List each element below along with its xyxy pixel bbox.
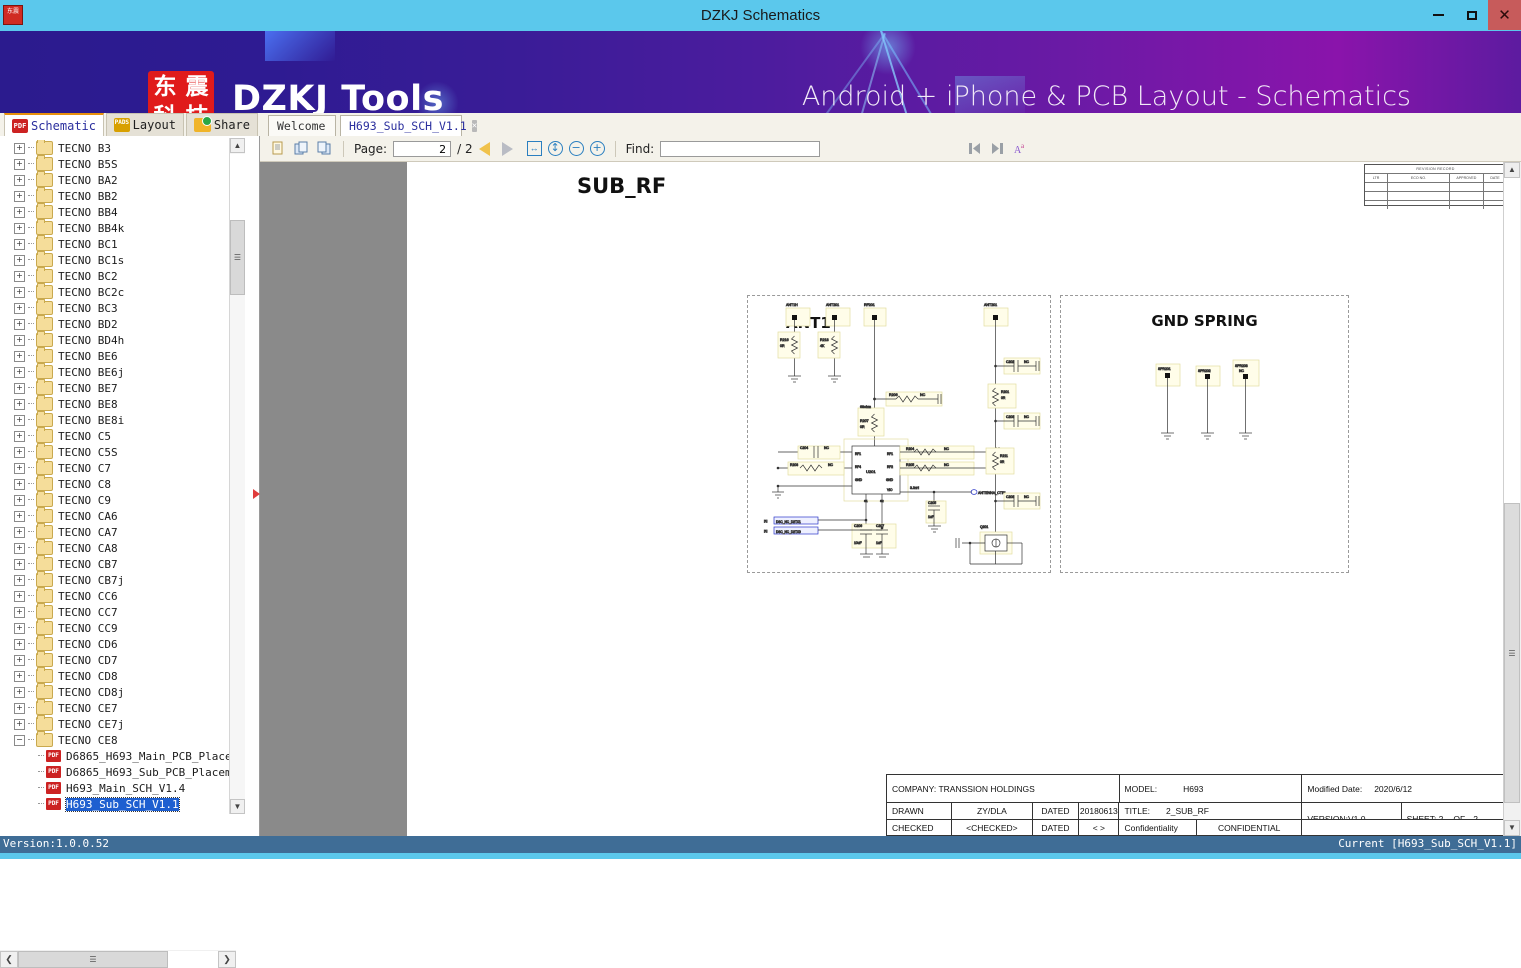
file-tree[interactable]: +TECNO B3+TECNO B5S+TECNO BA2+TECNO BB2+… (0, 140, 236, 812)
revision-header: REVISION RECORD (1365, 165, 1506, 174)
tree-item-label: TECNO CA7 (58, 526, 118, 539)
title-block-spacer (1302, 820, 1507, 836)
revision-col-ltr: LTR (1365, 174, 1388, 182)
svg-text:a: a (1021, 142, 1025, 150)
window-controls: ✕ (1422, 0, 1521, 31)
next-page-icon[interactable] (502, 142, 513, 156)
tree-item-folder[interactable]: +TECNO BC3 (0, 300, 236, 316)
expand-icon[interactable]: + (14, 399, 25, 410)
folder-icon (36, 381, 53, 395)
modified-value: 2020/6/12 (1374, 784, 1412, 794)
find-next-icon[interactable] (989, 140, 1006, 157)
tree-item-label: TECNO BC2c (58, 286, 124, 299)
expand-icon[interactable]: + (14, 159, 25, 170)
expand-icon[interactable]: + (14, 223, 25, 234)
tree-connector (28, 403, 34, 405)
tree-connector (28, 163, 34, 165)
tree-connector (28, 259, 34, 261)
folder-icon (36, 573, 53, 587)
copy-page-icon[interactable] (270, 140, 287, 157)
tree-item-folder[interactable]: +TECNO CA8 (0, 540, 236, 556)
tree-item-label: TECNO BB4k (58, 222, 124, 235)
title-value: 2_SUB_RF (1166, 806, 1209, 816)
tree-item-folder[interactable]: −TECNO CE8 (0, 732, 236, 748)
tree-item-label: TECNO CD7 (58, 654, 118, 667)
scroll-track-upper[interactable] (230, 154, 245, 220)
tree-item-folder[interactable]: +TECNO CD7 (0, 652, 236, 668)
tree-connector (28, 323, 34, 325)
logo-char-3: 科 (149, 104, 181, 114)
tab-share[interactable]: Share (186, 113, 258, 136)
title-block-row-checked: CHECKED <CHECKED> DATED < > Confidential… (887, 820, 1507, 836)
tree-item-folder[interactable]: +TECNO BD2 (0, 316, 236, 332)
minimize-button[interactable] (1422, 0, 1455, 30)
collapse-icon[interactable]: − (14, 735, 25, 746)
doc-tab-welcome-label: Welcome (277, 119, 325, 133)
tree-item-label: D6865_H693_Sub_PCB_Placem (66, 766, 232, 779)
dated2-value: < > (1079, 820, 1119, 836)
title-label: TITLE: (1124, 806, 1150, 816)
expand-icon[interactable]: + (14, 655, 25, 666)
panel-collapse-handle[interactable] (253, 489, 260, 499)
tree-item-label: TECNO BE8i (58, 414, 124, 427)
tab-layout[interactable]: PADS Layout (106, 113, 184, 136)
tree-connector (28, 355, 34, 357)
brand-title: DZKJ Tools (232, 79, 444, 113)
expand-icon[interactable]: + (14, 495, 25, 506)
folder-icon (36, 589, 53, 603)
svg-text:R206: R206 (889, 393, 898, 397)
tree-item-pdf[interactable]: PDFD6865_H693_Main_PCB_Place (0, 748, 236, 764)
tree-item-label: TECNO CE8 (58, 734, 118, 747)
folder-icon (36, 429, 53, 443)
svg-text:0R: 0R (1001, 396, 1006, 400)
svg-text:C206: C206 (854, 524, 862, 528)
folder-icon (36, 621, 53, 635)
share-icon (194, 118, 211, 132)
tree-connector (28, 387, 34, 389)
expand-icon[interactable]: + (14, 383, 25, 394)
folder-icon (36, 493, 53, 507)
folder-icon (36, 397, 53, 411)
toolbar-separator (343, 141, 344, 157)
document-viewer[interactable]: SUB_RF REVISION RECORD LTR ECO NO. APPRO… (260, 162, 1521, 836)
tree-connector (28, 675, 34, 677)
tree-vertical-scrollbar[interactable]: ▲ ☰ ▼ (229, 138, 245, 814)
folder-icon (36, 413, 53, 427)
pdf-icon: PDF (46, 766, 61, 778)
tree-item-folder[interactable]: +TECNO C9 (0, 492, 236, 508)
expand-icon[interactable]: + (14, 575, 25, 586)
expand-icon[interactable]: + (14, 239, 25, 250)
tree-connector (28, 659, 34, 661)
zoom-in-icon[interactable]: + (590, 141, 605, 156)
expand-icon[interactable]: + (14, 303, 25, 314)
tree-item-label: TECNO CA8 (58, 542, 118, 555)
scroll-down-icon[interactable]: ▼ (230, 799, 245, 814)
expand-icon[interactable]: + (14, 687, 25, 698)
tree-item-folder[interactable]: +TECNO CB7j (0, 572, 236, 588)
pads-icon: PADS (114, 118, 130, 132)
svg-text:NC: NC (828, 463, 833, 467)
expand-icon[interactable]: + (14, 607, 25, 618)
svg-text:3.3nH: 3.3nH (910, 486, 920, 490)
modified-date-cell: Modified Date: 2020/6/12 (1302, 775, 1507, 802)
tree-connector (28, 419, 34, 421)
tree-connector (28, 307, 34, 309)
expand-icon[interactable]: + (14, 431, 25, 442)
svg-text:NC: NC (1239, 369, 1244, 373)
expand-icon[interactable]: + (14, 287, 25, 298)
title-bar: 东震 DZKJ Schematics ✕ (0, 0, 1521, 32)
tree-item-folder[interactable]: +TECNO BA2 (0, 172, 236, 188)
tree-item-folder[interactable]: +TECNO BC1s (0, 252, 236, 268)
svg-text:NC: NC (1024, 415, 1029, 419)
tree-item-label: TECNO C5S (58, 446, 118, 459)
tree-connector (28, 515, 34, 517)
folder-icon (36, 269, 53, 283)
tree-item-folder[interactable]: +TECNO CB7 (0, 556, 236, 572)
scroll-up-icon[interactable]: ▲ (230, 138, 245, 153)
fit-width-icon[interactable]: ↔ (527, 141, 542, 156)
tree-item-folder[interactable]: +TECNO C8 (0, 476, 236, 492)
tree-item-label: TECNO CA6 (58, 510, 118, 523)
svg-text:NC: NC (1024, 495, 1029, 499)
tree-item-folder[interactable]: +TECNO BC2 (0, 268, 236, 284)
svg-text:R218: R218 (820, 338, 829, 342)
find-prev-icon[interactable] (966, 140, 983, 157)
svg-text:S2: S2 (880, 499, 884, 503)
toolbar-separator-2 (615, 141, 616, 157)
svg-text:SPR202: SPR202 (1198, 369, 1211, 373)
hscroll-track[interactable] (168, 951, 218, 968)
svg-text:SPR203: SPR203 (1235, 364, 1248, 368)
expand-icon[interactable]: + (14, 527, 25, 538)
tree-horizontal-scrollbar[interactable]: ❮ ☰ ❯ (0, 950, 236, 968)
svg-text:RF2: RF2 (887, 465, 893, 469)
tree-item-label: TECNO BE6 (58, 350, 118, 363)
tree-connector (28, 451, 34, 453)
title-cell: TITLE: 2_SUB_RF (1119, 803, 1302, 819)
tree-item-label: TECNO CC7 (58, 606, 118, 619)
tree-item-folder[interactable]: +TECNO CE7 (0, 700, 236, 716)
revision-row (1365, 183, 1506, 192)
tree-connector (28, 339, 34, 341)
folder-icon (36, 237, 53, 251)
tree-connector (28, 739, 34, 741)
folder-icon (36, 205, 53, 219)
svg-text:DSC_NC_D2TX1: DSC_NC_D2TX1 (776, 520, 801, 524)
page-label: Page: (354, 142, 387, 156)
svg-text:NC: NC (824, 446, 829, 450)
doc-tab-welcome[interactable]: Welcome (268, 115, 336, 136)
extract-page-icon[interactable] (316, 140, 333, 157)
tree-connector (28, 531, 34, 533)
folder-icon (36, 717, 53, 731)
tree-item-pdf[interactable]: PDFD6865_H693_Sub_PCB_Placem (0, 764, 236, 780)
expand-icon[interactable]: + (14, 255, 25, 266)
expand-icon[interactable]: + (14, 191, 25, 202)
folder-icon (36, 285, 53, 299)
expand-icon[interactable]: + (14, 351, 25, 362)
tree-connector (28, 499, 34, 501)
title-block-row-top: COMPANY: TRANSSION HOLDINGS MODEL: H693 … (887, 775, 1507, 803)
expand-icon[interactable]: + (14, 511, 25, 522)
fit-page-icon[interactable]: ↕ (548, 141, 563, 156)
expand-icon[interactable]: + (14, 175, 25, 186)
tree-item-folder[interactable]: +TECNO CC7 (0, 604, 236, 620)
find-input[interactable] (660, 141, 820, 157)
tree-item-folder[interactable]: +TECNO BD4h (0, 332, 236, 348)
tree-connector (28, 195, 34, 197)
tree-item-folder[interactable]: +TECNO C5S (0, 444, 236, 460)
tree-item-label: TECNO BC1s (58, 254, 124, 267)
tree-connector (28, 227, 34, 229)
tree-item-label: TECNO BE6j (58, 366, 124, 379)
tree-item-folder[interactable]: +TECNO BC2c (0, 284, 236, 300)
version-cell: VERSION:V1.0 (1302, 803, 1401, 819)
folder-icon (36, 317, 53, 331)
title-block-row-drawn: DRAWN ZY/DLA DATED 20180613 TITLE: 2_SUB… (887, 803, 1507, 820)
expand-icon[interactable]: + (14, 623, 25, 634)
tree-connector (28, 579, 34, 581)
expand-icon[interactable]: + (14, 335, 25, 346)
svg-text:SPR201: SPR201 (1158, 367, 1171, 371)
tree-item-label: TECNO BB4 (58, 206, 118, 219)
svg-text:1uF: 1uF (928, 515, 934, 519)
tree-item-label: TECNO BC3 (58, 302, 118, 315)
svg-text:C203: C203 (1006, 415, 1014, 419)
find-options-icon[interactable]: Aa (1012, 140, 1029, 157)
banner-glow-1 (860, 31, 916, 75)
maximize-button[interactable] (1455, 0, 1488, 30)
sheet-label: SHEET: 2 (1407, 814, 1444, 819)
svg-text:0R: 0R (1000, 460, 1005, 464)
tree-item-folder[interactable]: +TECNO B3 (0, 140, 236, 156)
svg-text:R205: R205 (906, 463, 914, 467)
folder-icon (36, 669, 53, 683)
tree-connector (38, 755, 44, 757)
tree-item-folder[interactable]: +TECNO CA7 (0, 524, 236, 540)
revision-record-table: REVISION RECORD LTR ECO NO. APPROVED DAT… (1364, 164, 1507, 206)
tree-item-label: TECNO CB7j (58, 574, 124, 587)
svg-text:GND: GND (855, 478, 863, 482)
scroll-thumb[interactable]: ☰ (230, 220, 245, 295)
tree-item-label: D6865_H693_Main_PCB_Place (66, 750, 232, 763)
tree-item-folder[interactable]: +TECNO CC6 (0, 588, 236, 604)
tree-connector (28, 707, 34, 709)
tree-item-pdf[interactable]: PDFH693_Main_SCH_V1.4 (0, 780, 236, 796)
tree-item-label: TECNO BC1 (58, 238, 118, 251)
doc-tab-h693-label: H693_Sub_SCH_V1.1 (349, 119, 467, 133)
expand-icon[interactable]: + (14, 479, 25, 490)
maximize-icon (1467, 11, 1477, 20)
folder-icon (36, 637, 53, 651)
tree-item-label: TECNO CE7 (58, 702, 118, 715)
viewer-scroll-up-icon[interactable]: ▲ (1504, 162, 1520, 178)
revision-row (1365, 201, 1506, 209)
tree-item-folder[interactable]: +TECNO CD8j (0, 684, 236, 700)
tree-item-folder[interactable]: +TECNO C5 (0, 428, 236, 444)
folder-icon (36, 653, 53, 667)
tree-connector (28, 595, 34, 597)
app-banner: 东 震 科 技 DZKJ Tools Android + iPhone & PC… (0, 31, 1521, 113)
expand-icon[interactable]: + (14, 463, 25, 474)
svg-text:NC: NC (944, 463, 949, 467)
document-toolbar: Page: 2 / 2 ↔ ↕ − + Find: Aa (260, 136, 1521, 162)
close-button[interactable]: ✕ (1488, 0, 1521, 30)
expand-icon[interactable]: + (14, 703, 25, 714)
folder-icon (36, 365, 53, 379)
tree-connector (38, 787, 44, 789)
svg-text:S1: S1 (864, 499, 868, 503)
close-icon[interactable]: ✕ (472, 120, 477, 132)
tree-item-folder[interactable]: +TECNO BE6 (0, 348, 236, 364)
folder-icon (36, 701, 53, 715)
logo-char-2: 震 (181, 74, 213, 101)
tree-item-folder[interactable]: +TECNO BB2 (0, 188, 236, 204)
svg-text:68ohm: 68ohm (860, 405, 871, 409)
schematic-block-ant1: ANT1 ANT1H R216 0R (747, 295, 1051, 573)
svg-text:0R: 0R (780, 344, 785, 348)
scroll-right-icon[interactable]: ❯ (218, 951, 236, 968)
tree-item-folder[interactable]: +TECNO CE7j (0, 716, 236, 732)
tree-item-folder[interactable]: +TECNO CD6 (0, 636, 236, 652)
expand-icon[interactable]: + (14, 143, 25, 154)
expand-icon[interactable]: + (14, 559, 25, 570)
dzkj-logo: 东 震 科 技 (148, 71, 214, 113)
tree-item-folder[interactable]: +TECNO CA6 (0, 508, 236, 524)
tree-item-label: TECNO BD4h (58, 334, 124, 347)
status-current-file: Current [H693_Sub_SCH_V1.1] (1338, 837, 1517, 850)
tree-item-folder[interactable]: +TECNO CD8 (0, 668, 236, 684)
svg-text:R204: R204 (906, 447, 914, 451)
page-title: SUB_RF (577, 174, 666, 198)
pdf-icon: PDF (46, 782, 61, 794)
tree-item-folder[interactable]: +TECNO BE8 (0, 396, 236, 412)
tree-item-folder[interactable]: +TECNO CC9 (0, 620, 236, 636)
expand-icon[interactable]: + (14, 591, 25, 602)
logo-char-4: 技 (181, 104, 213, 114)
tree-item-label: TECNO C5 (58, 430, 111, 443)
svg-text:VIO: VIO (887, 488, 893, 492)
folder-icon (36, 685, 53, 699)
tree-item-label: TECNO BC2 (58, 270, 118, 283)
viewer-scroll-down-icon[interactable]: ▼ (1504, 820, 1520, 836)
revision-col-approved: APPROVED (1450, 174, 1484, 182)
confidentiality-label: Confidentiality (1119, 820, 1197, 836)
viewer-vertical-scrollbar[interactable]: ▲ ☰ ▼ (1503, 162, 1521, 836)
expand-icon[interactable]: + (14, 719, 25, 730)
folder-icon (36, 605, 53, 619)
viewer-scroll-track-upper[interactable] (1504, 178, 1520, 503)
hscroll-thumb[interactable]: ☰ (18, 951, 168, 968)
tree-connector (28, 467, 34, 469)
expand-icon[interactable]: + (14, 415, 25, 426)
svg-text:U201: U201 (866, 469, 876, 474)
tree-item-folder[interactable]: +TECNO BC1 (0, 236, 236, 252)
tree-item-label: TECNO CC6 (58, 590, 118, 603)
insert-page-icon[interactable] (293, 140, 310, 157)
svg-text:[1]: [1] (764, 529, 768, 533)
expand-icon[interactable]: + (14, 543, 25, 554)
tree-connector (28, 483, 34, 485)
folder-icon (36, 477, 53, 491)
svg-text:RF1: RF1 (887, 452, 893, 456)
svg-text:C205: C205 (928, 501, 936, 505)
viewer-scroll-thumb[interactable]: ☰ (1504, 503, 1520, 803)
expand-icon[interactable]: + (14, 319, 25, 330)
sheet-of: OF (1453, 814, 1465, 819)
tree-connector (28, 611, 34, 613)
svg-text:NC: NC (944, 447, 949, 451)
svg-text:RF201: RF201 (864, 303, 875, 307)
expand-icon[interactable]: + (14, 447, 25, 458)
scroll-left-icon[interactable]: ❮ (0, 951, 18, 968)
tree-connector (28, 179, 34, 181)
folder-icon (36, 733, 53, 747)
tree-item-folder[interactable]: +TECNO BE7 (0, 380, 236, 396)
doc-tab-h693-sub-sch[interactable]: H693_Sub_SCH_V1.1 ✕ (340, 115, 462, 136)
svg-text:1uF: 1uF (876, 541, 882, 545)
tree-item-label: TECNO CD8 (58, 670, 118, 683)
status-version: Version:1.0.0.52 (3, 837, 109, 850)
svg-text:R203: R203 (790, 463, 798, 467)
tree-connector (28, 563, 34, 565)
expand-icon[interactable]: + (14, 367, 25, 378)
svg-text:[1]: [1] (764, 519, 768, 523)
tree-item-folder[interactable]: +TECNO C7 (0, 460, 236, 476)
tree-item-folder[interactable]: +TECNO B5S (0, 156, 236, 172)
window-bottom-edge (0, 853, 1521, 859)
revision-columns: LTR ECO NO. APPROVED DATE (1365, 174, 1506, 183)
prev-page-icon[interactable] (479, 142, 490, 156)
application-window: 东震 DZKJ Schematics ✕ 东 震 科 技 DZKJ Tools … (0, 0, 1521, 859)
banner-beam-1 (265, 31, 335, 61)
tree-item-label: TECNO BA2 (58, 174, 118, 187)
tree-item-label: TECNO BD2 (58, 318, 118, 331)
zoom-out-icon[interactable]: − (569, 141, 584, 156)
ant1-schematic-drawing: ANT1H R216 0R ANT201 R218 (748, 296, 1050, 572)
tree-connector (28, 275, 34, 277)
svg-text:C204: C204 (800, 446, 808, 450)
expand-icon[interactable]: + (14, 639, 25, 650)
tree-item-folder[interactable]: +TECNO BB4k (0, 220, 236, 236)
svg-text:R211: R211 (1000, 454, 1008, 458)
page-input[interactable]: 2 (393, 141, 451, 157)
tab-schematic-label: Schematic (31, 119, 96, 133)
expand-icon[interactable]: + (14, 271, 25, 282)
svg-text:Q201: Q201 (980, 525, 988, 529)
schematic-page: SUB_RF REVISION RECORD LTR ECO NO. APPRO… (407, 162, 1521, 836)
tree-item-label: TECNO C8 (58, 478, 111, 491)
tree-item-folder[interactable]: +TECNO BE6j (0, 364, 236, 380)
tree-connector (38, 771, 44, 773)
tab-schematic[interactable]: PDF Schematic (4, 113, 104, 136)
tree-item-folder[interactable]: +TECNO BB4 (0, 204, 236, 220)
checked-label: CHECKED (887, 820, 952, 836)
svg-text:0R: 0R (860, 425, 865, 429)
tree-connector (28, 147, 34, 149)
tree-connector (28, 643, 34, 645)
drawn-value: ZY/DLA (952, 803, 1033, 819)
expand-icon[interactable]: + (14, 207, 25, 218)
tree-item-folder[interactable]: +TECNO BE8i (0, 412, 236, 428)
expand-icon[interactable]: + (14, 671, 25, 682)
tree-item-pdf[interactable]: PDFH693_Sub_SCH_V1.1 (0, 796, 236, 812)
dated2-label: DATED (1033, 820, 1080, 836)
tree-connector (28, 211, 34, 213)
